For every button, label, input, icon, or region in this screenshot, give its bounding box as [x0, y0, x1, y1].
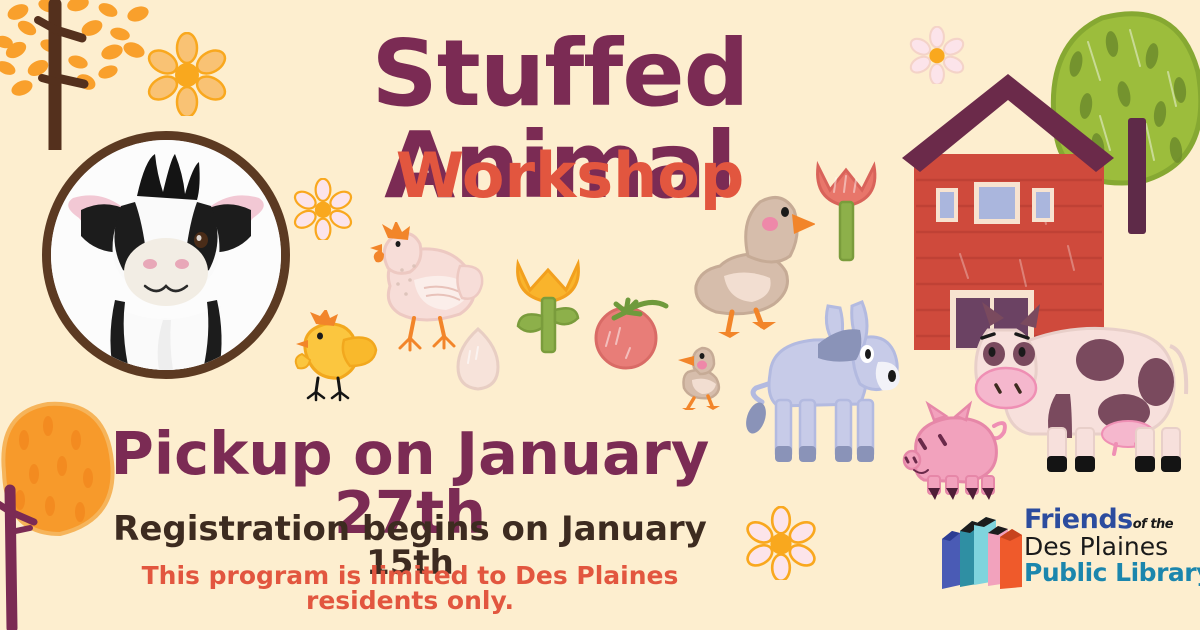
- pig-icon: [898, 398, 1018, 508]
- stacked-books-icon: [938, 509, 1024, 591]
- page-subtitle: Workshop: [330, 145, 810, 207]
- logo-line-friends: Friendsof the: [1024, 506, 1200, 533]
- logo-friends-word: Friends: [1024, 504, 1133, 535]
- logo-line-des-plaines: Des Plaines: [1024, 534, 1200, 559]
- logo-line-public-library: Public Library: [1024, 560, 1200, 585]
- spotted-cow-icon: [960, 288, 1195, 483]
- tomato-icon: [588, 292, 674, 374]
- donkey-icon: [742, 296, 927, 476]
- friends-of-library-logo: Friendsof the Des Plaines Public Library: [938, 505, 1186, 591]
- autumn-tree-top-left-icon: [0, 0, 180, 150]
- poster-canvas: Stuffed Animal Workshop Pickup on Januar…: [0, 0, 1200, 630]
- logo-text-block: Friendsof the Des Plaines Public Library: [1024, 506, 1200, 585]
- pink-daisy-bottom-icon: [744, 506, 818, 580]
- duckling-icon: [668, 338, 738, 410]
- logo-of-the-word: of the: [1133, 517, 1173, 532]
- residency-restriction-text: This program is limited to Des Plaines r…: [80, 563, 740, 613]
- hen-icon: [368, 222, 488, 357]
- chick-icon: [288, 310, 383, 405]
- red-barn-icon: [890, 60, 1150, 360]
- yellow-tulip-icon: [508, 248, 588, 358]
- egg-icon: [452, 325, 504, 393]
- green-tree-top-right-icon: [1028, 0, 1200, 264]
